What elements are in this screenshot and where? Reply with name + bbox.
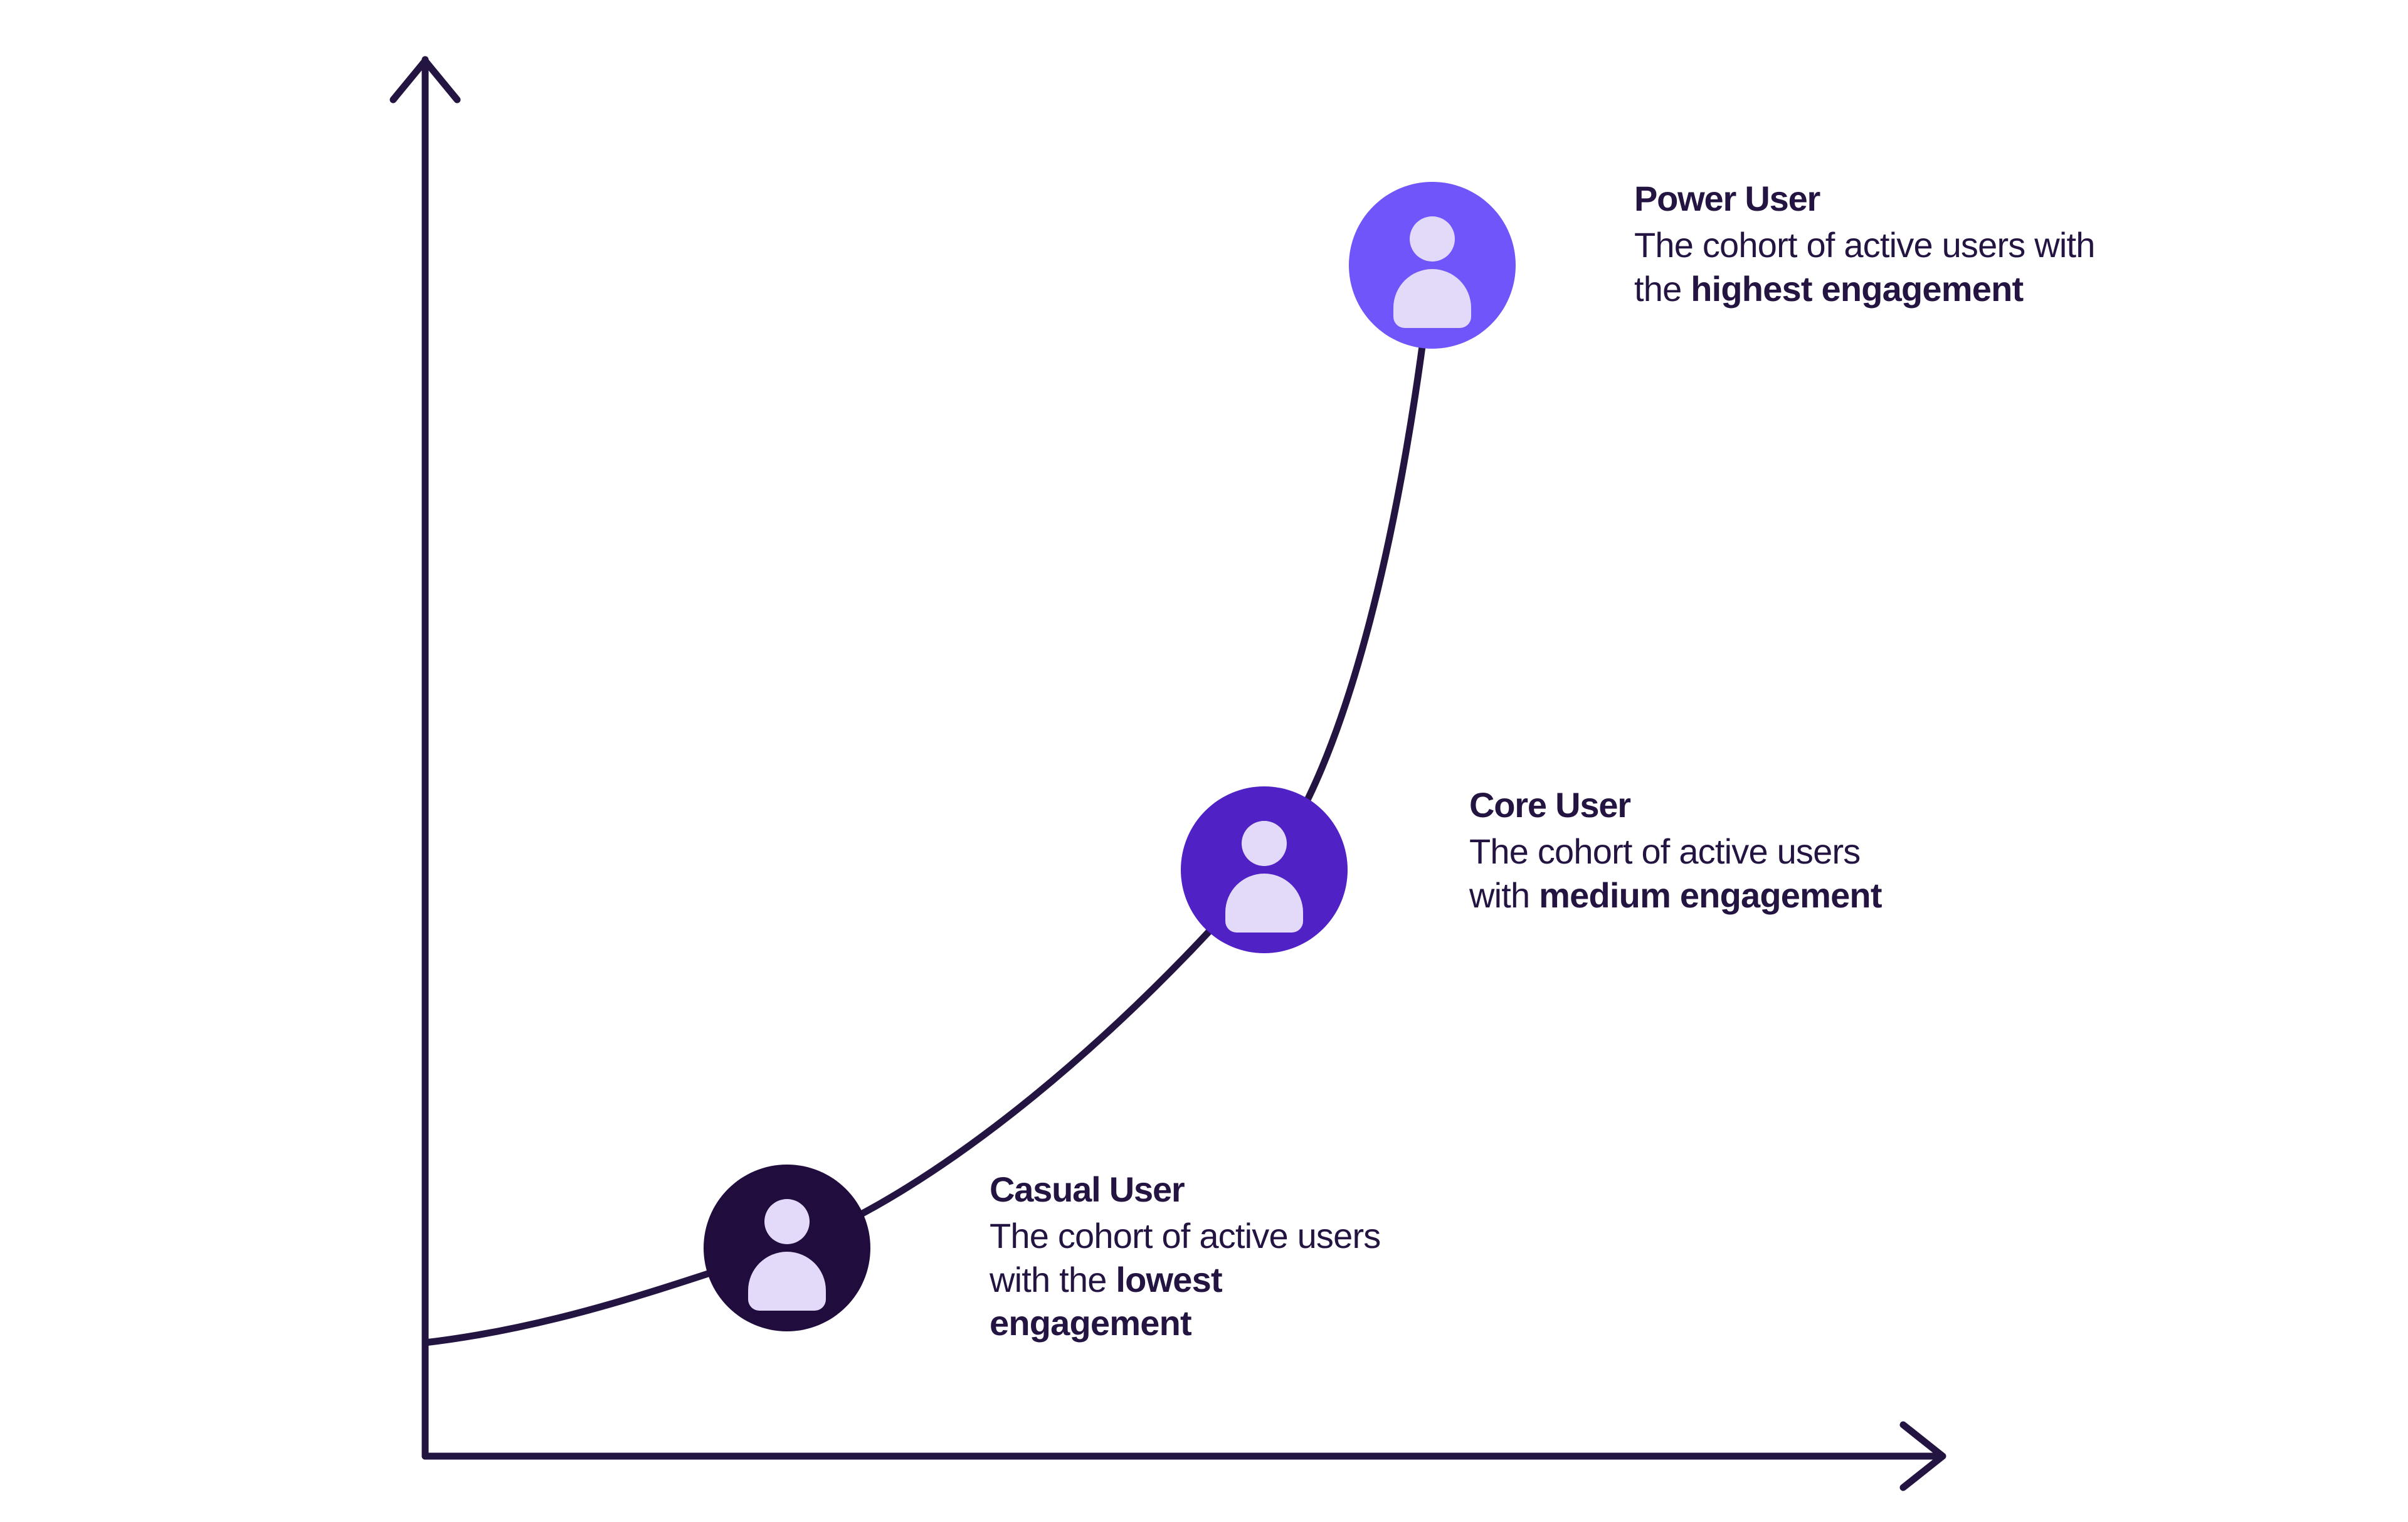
marker-casual-user[interactable]: [704, 1165, 870, 1331]
annotation-casual-user: Casual User The cohort of active users w…: [990, 1168, 1428, 1345]
marker-power-user[interactable]: [1349, 182, 1516, 349]
engagement-cohort-diagram: Power User The cohort of active users wi…: [0, 0, 2408, 1522]
annotation-body: The cohort of active users with the lowe…: [990, 1214, 1428, 1345]
annotation-title: Casual User: [990, 1168, 1428, 1211]
annotation-body: The cohort of active users with the high…: [1634, 223, 2111, 310]
annotation-body-emphasis: medium engagement: [1539, 875, 1882, 915]
marker-core-user[interactable]: [1181, 786, 1348, 953]
annotation-body-emphasis: highest engagement: [1691, 269, 2023, 309]
annotation-title: Power User: [1634, 177, 2111, 220]
annotation-body: The cohort of active users with medium e…: [1469, 830, 1908, 917]
annotation-power-user: Power User The cohort of active users wi…: [1634, 177, 2111, 310]
annotation-core-user: Core User The cohort of active users wit…: [1469, 783, 1908, 917]
annotation-title: Core User: [1469, 783, 1908, 827]
